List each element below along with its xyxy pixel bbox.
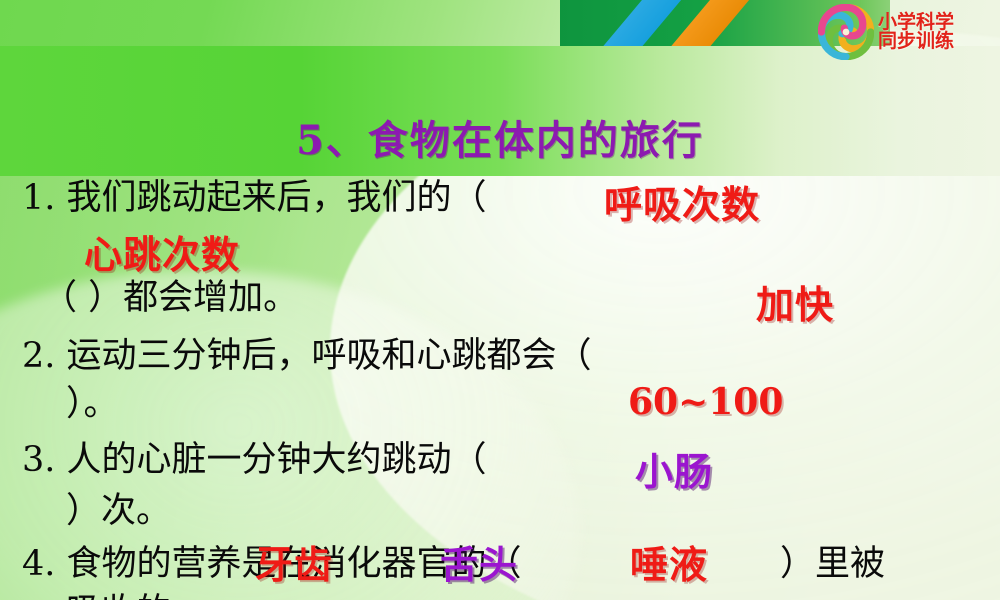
brand-logo-text: 小学科学 同步训练 [878,13,954,51]
question-3-line-2: ）次。 [66,485,171,537]
question-3-line-1: 3. 人的心脏一分钟大约跳动（ [22,434,487,486]
page-title: 5、食物在体内的旅行 [0,108,1000,166]
question-1-line-1: 1. 我们跳动起来后，我们的（ [22,172,487,224]
question-1-line-2: （ ）都会增加。 [42,272,298,324]
answer-jiakuai: 加快 [756,274,834,329]
answer-60-100: 60~100 [628,381,783,423]
answer-huxi-cishu: 呼吸次数 [604,174,760,229]
question-2-line-1: 2. 运动三分钟后，呼吸和心跳都会（ [22,330,592,382]
slide-canvas: 小学科学 同步训练 5、食物在体内的旅行 1. 我们跳动起来后，我们的（ （ ）… [0,0,1000,600]
answer-yachi: 牙齿 [255,534,333,589]
question-4-line-3: 吸收的。 [66,586,206,600]
question-2-line-2: ）。 [66,378,119,430]
brand-line-2: 同步训练 [878,32,954,51]
brand-logo: 小学科学 同步训练 [818,2,998,62]
question-4-line-1-tail: ）里被 [780,538,885,590]
color-spiral-logo-icon [818,4,874,60]
answer-xintiao-cishu: 心跳次数 [84,224,240,279]
answer-tuoye: 唾液 [630,534,708,589]
answer-xiaochang: 小肠 [635,441,713,496]
answer-shetou: 舌头 [440,534,518,589]
